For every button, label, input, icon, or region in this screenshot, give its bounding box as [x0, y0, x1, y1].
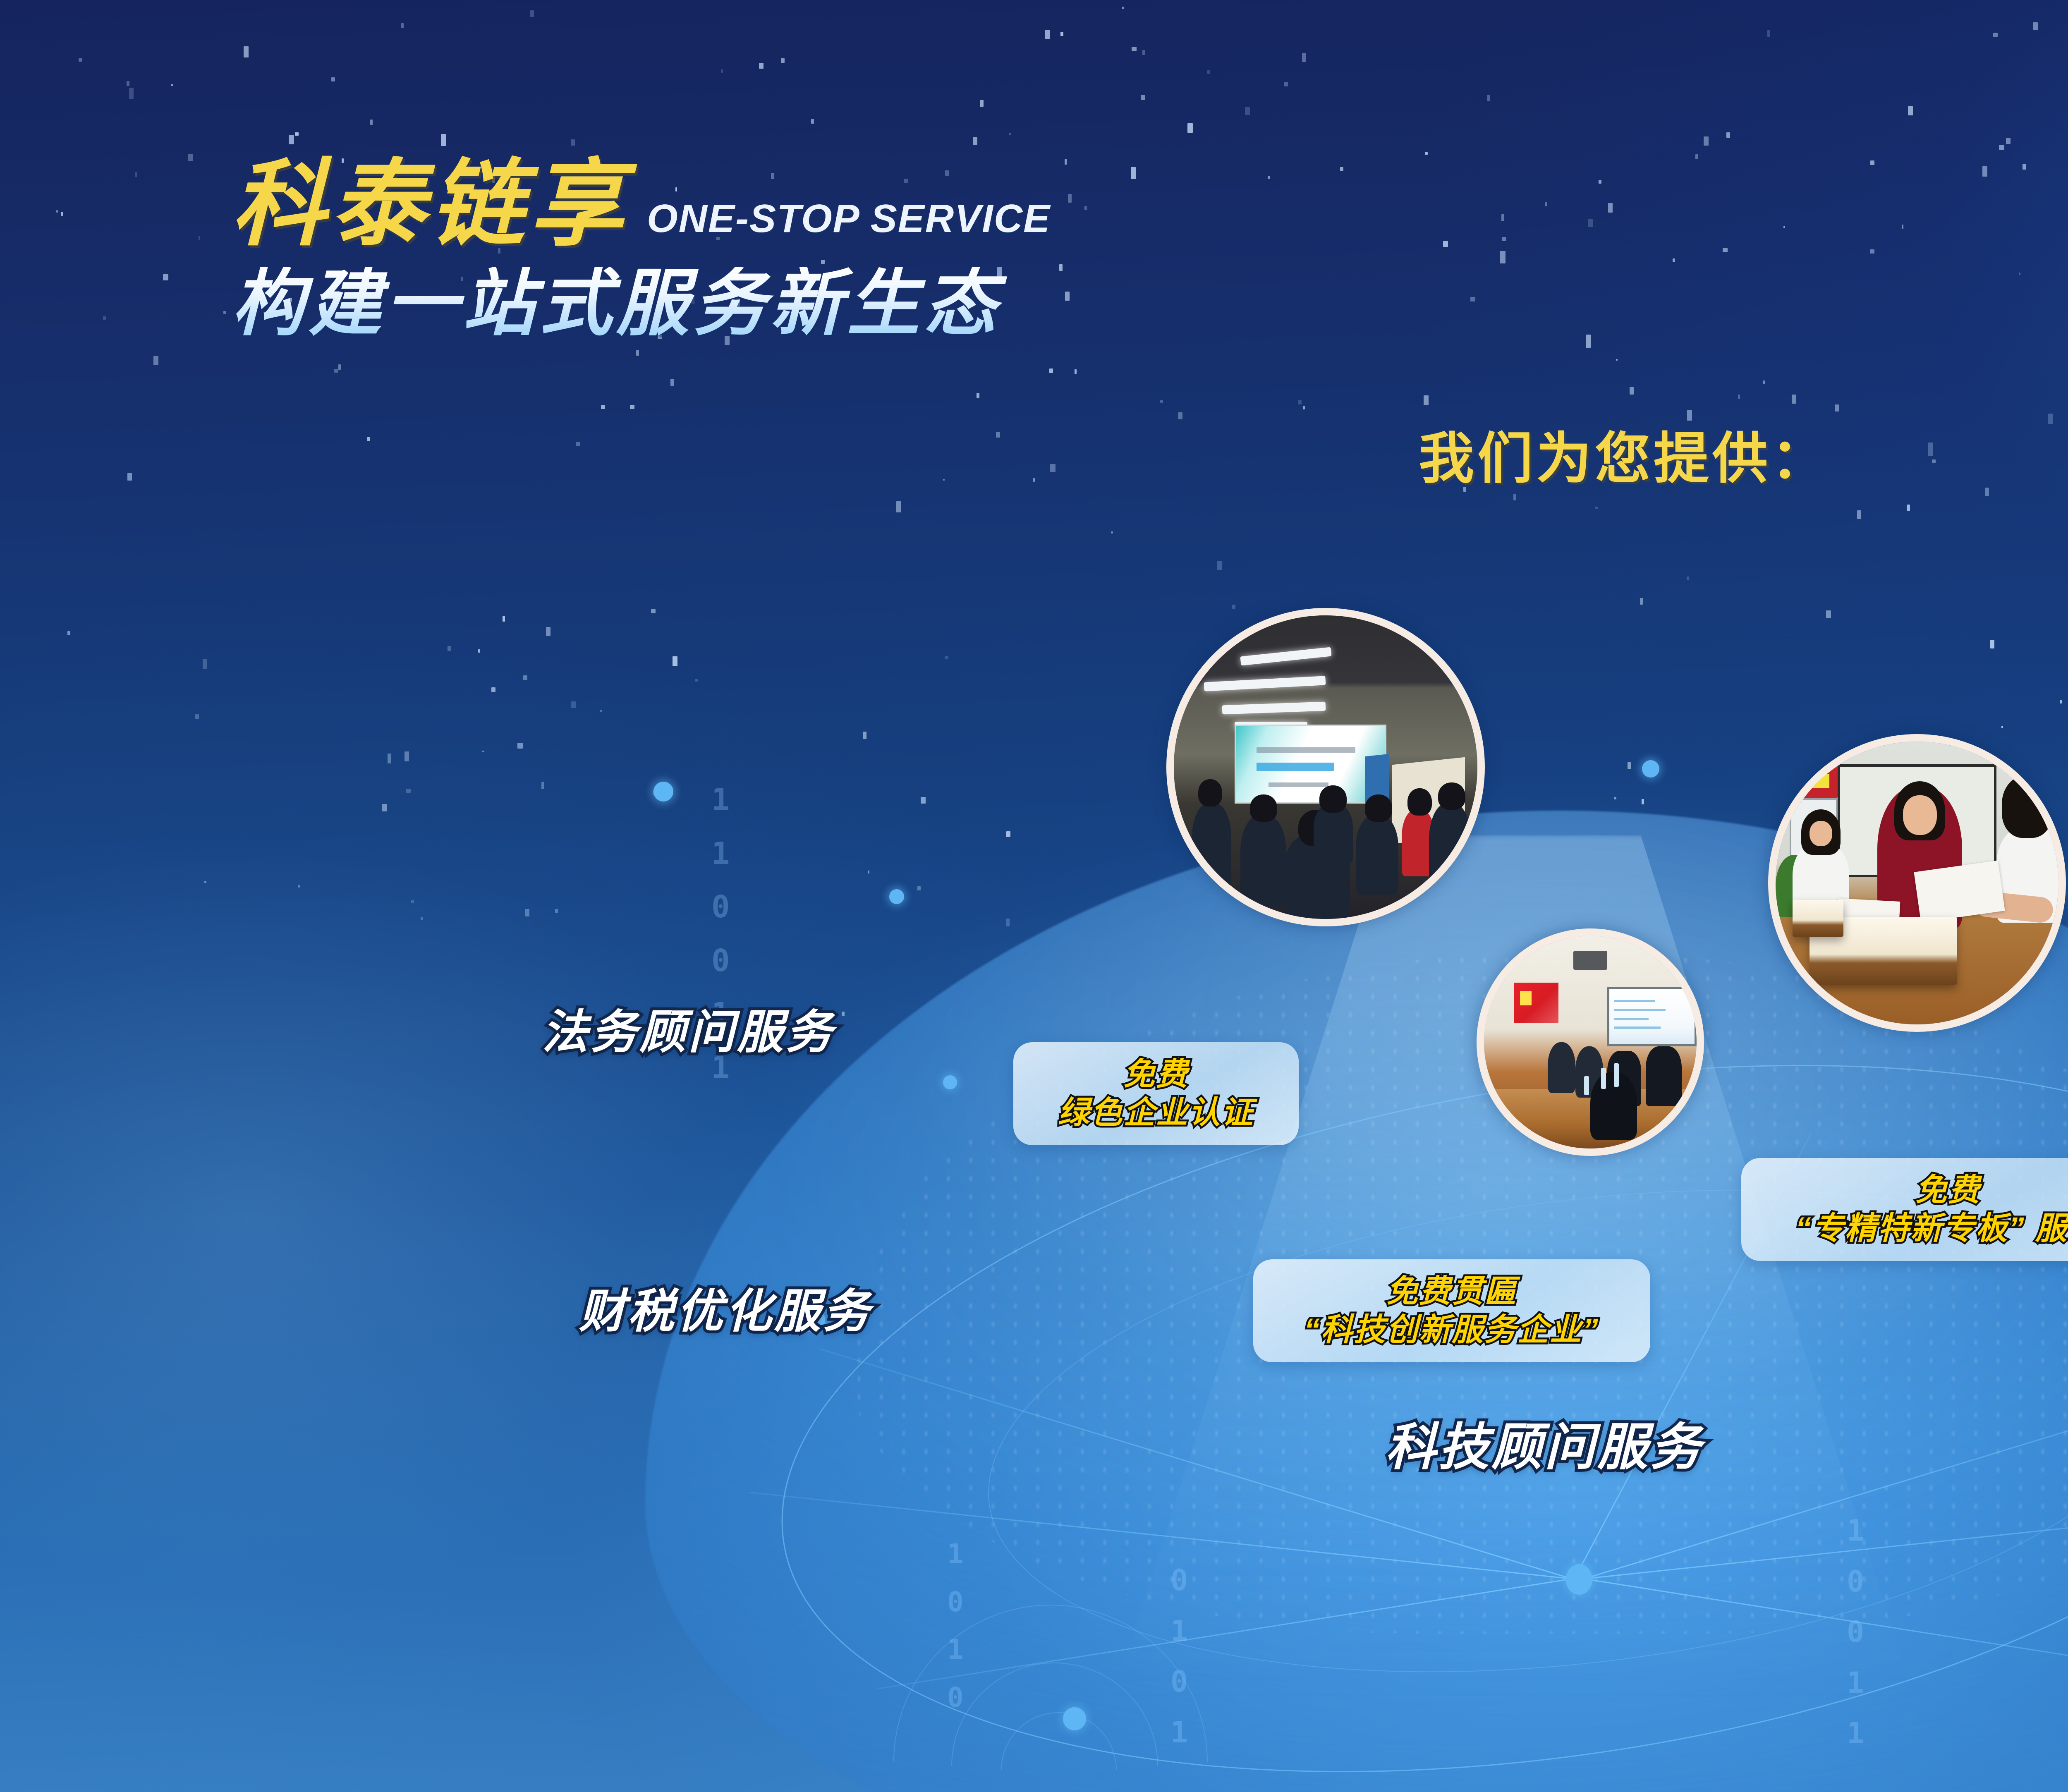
- star-dot: [1723, 248, 1728, 252]
- binary-digit: 0: [947, 1674, 964, 1722]
- network-node: [889, 889, 904, 904]
- star-dot: [195, 714, 199, 719]
- star-dot: [1640, 598, 1643, 605]
- star-dot: [382, 804, 387, 811]
- badge-green-enterprise[interactable]: 免费 绿色企业认证: [1013, 1042, 1299, 1145]
- star-dot: [1783, 226, 1785, 228]
- binary-digit: 1: [711, 827, 730, 881]
- star-dot: [555, 909, 558, 913]
- star-dot: [759, 63, 764, 69]
- star-dot: [1298, 400, 1302, 404]
- network-node-center: [1566, 1564, 1592, 1595]
- badge-line-1: 免费: [1764, 1172, 2068, 1208]
- star-dot: [921, 797, 926, 804]
- star-dot: [103, 316, 106, 320]
- binary-digit: 1: [1170, 1606, 1188, 1657]
- star-dot: [153, 356, 158, 365]
- star-dot: [1870, 249, 1874, 254]
- star-dot: [1608, 203, 1613, 213]
- star-dot: [1187, 123, 1193, 133]
- star-dot: [1588, 219, 1593, 227]
- badge-line-1: 免费: [1036, 1056, 1276, 1092]
- star-dot: [973, 137, 977, 145]
- star-dot: [842, 1012, 845, 1016]
- star-dot: [405, 751, 409, 761]
- star-dot: [1006, 919, 1010, 926]
- star-dot: [2023, 164, 2026, 170]
- star-dot: [1628, 762, 1631, 769]
- star-dot: [1763, 380, 1765, 384]
- star-dot: [1586, 335, 1591, 348]
- star-dot: [2006, 138, 2011, 144]
- star-dot: [1065, 159, 1067, 165]
- badge-line-2: 绿色企业认证: [1036, 1095, 1276, 1131]
- star-dot: [1616, 359, 1618, 361]
- star-dot: [1501, 214, 1504, 221]
- star-dot: [411, 900, 414, 903]
- star-dot: [1985, 488, 1989, 496]
- star-dot: [601, 405, 605, 409]
- star-dot: [571, 139, 575, 146]
- star-dot: [421, 917, 423, 920]
- star-dot: [1068, 194, 1072, 203]
- star-dot: [600, 710, 602, 712]
- binary-digit: 0: [1847, 1607, 1864, 1658]
- star-dot: [1726, 132, 1730, 138]
- star-dot: [223, 311, 226, 314]
- star-dot: [67, 631, 70, 635]
- star-dot: [388, 754, 391, 763]
- photo-seminar-hall: [1166, 608, 1485, 926]
- provide-heading: 我们为您提供：: [1419, 414, 1830, 494]
- binary-column-mid-2: 10011: [1847, 1505, 1864, 1759]
- star-dot: [1470, 297, 1475, 301]
- star-dot: [1424, 395, 1429, 405]
- star-dot: [1982, 166, 1987, 177]
- star-dot: [401, 23, 404, 28]
- star-dot: [630, 405, 634, 409]
- star-dot: [636, 350, 639, 356]
- star-dot: [1599, 180, 1601, 184]
- star-dot: [2019, 273, 2020, 275]
- star-dot: [1738, 395, 1740, 399]
- star-dot: [441, 134, 446, 146]
- binary-digit: 1: [947, 1530, 964, 1578]
- star-dot: [1060, 32, 1063, 36]
- star-dot: [129, 88, 134, 99]
- star-dot: [721, 69, 723, 73]
- star-dot: [1075, 369, 1077, 374]
- star-dot: [1142, 50, 1145, 55]
- star-dot: [171, 84, 173, 86]
- binary-digit: 0: [711, 880, 730, 934]
- star-dot: [1704, 136, 1709, 146]
- star-dot: [135, 172, 137, 177]
- binary-digit: 1: [1847, 1658, 1864, 1708]
- star-dot: [199, 236, 200, 240]
- star-dot: [1695, 154, 1698, 159]
- binary-digit: 1: [947, 1626, 964, 1674]
- star-dot: [1425, 152, 1428, 155]
- star-dot: [203, 659, 207, 669]
- star-dot: [945, 656, 948, 659]
- star-dot: [523, 675, 527, 680]
- star-dot: [695, 679, 698, 682]
- star-dot: [370, 120, 373, 125]
- star-dot: [1673, 258, 1675, 262]
- binary-column-mid-1: 0101: [1170, 1555, 1188, 1758]
- badge-tech-innovation[interactable]: 免费贯匾 “科技创新服务企业”: [1253, 1259, 1650, 1362]
- star-dot: [1141, 95, 1145, 100]
- star-dot: [1870, 160, 1874, 165]
- star-dot: [1443, 241, 1448, 247]
- service-label-fiscal-tax[interactable]: 财税优化服务: [579, 1274, 872, 1341]
- poster-canvas: 110011 1010 0101 10011 1101011 0110 0110…: [0, 0, 2068, 1792]
- star-dot: [406, 789, 411, 793]
- service-label-tech-advisory[interactable]: 科技顾问服务: [1386, 1406, 1703, 1479]
- star-dot: [1792, 395, 1796, 404]
- brand-title-cn: 科泰链享: [232, 157, 629, 251]
- headline-block: 科泰链享 ONE-STOP SERVICE 构建一站式服务新生态: [232, 157, 1051, 340]
- star-dot: [127, 81, 129, 86]
- star-dot: [1687, 577, 1689, 580]
- star-dot: [1160, 400, 1163, 403]
- star-dot: [1245, 107, 1250, 115]
- binary-digit: 1: [1847, 1505, 1864, 1556]
- star-dot: [977, 393, 979, 398]
- badge-specialized-new[interactable]: 免费 “专精特新专板” 服务: [1741, 1158, 2068, 1261]
- star-dot: [1059, 264, 1063, 271]
- star-dot: [1642, 799, 1644, 804]
- star-dot: [338, 364, 341, 370]
- star-dot: [79, 58, 82, 62]
- star-dot: [651, 609, 656, 613]
- star-dot: [917, 886, 921, 890]
- star-dot: [204, 881, 206, 883]
- star-dot: [1340, 167, 1343, 171]
- star-dot: [1065, 292, 1070, 301]
- star-dot: [1009, 133, 1011, 135]
- star-dot: [1049, 368, 1053, 373]
- star-dot: [1111, 531, 1113, 534]
- binary-digit: 0: [947, 1578, 964, 1626]
- star-dot: [517, 743, 523, 749]
- star-dot: [1907, 505, 1910, 511]
- star-dot: [1302, 53, 1306, 62]
- star-dot: [1006, 831, 1010, 837]
- binary-digit: 0: [1170, 1656, 1188, 1707]
- photo-office-consultation: [1768, 734, 2066, 1032]
- star-dot: [334, 369, 338, 373]
- binary-digit: 1: [711, 773, 730, 827]
- star-dot: [868, 871, 869, 873]
- star-dot: [980, 100, 984, 107]
- star-dot: [1928, 443, 1933, 456]
- star-dot: [996, 432, 1000, 438]
- star-dot: [1902, 225, 1903, 229]
- star-dot: [525, 909, 529, 916]
- brand-subtitle-cn: 构建一站式服务新生态: [232, 267, 1051, 340]
- star-dot: [541, 782, 544, 789]
- star-dot: [1857, 510, 1861, 519]
- star-dot: [811, 119, 814, 124]
- network-node: [943, 1075, 957, 1089]
- star-dot: [943, 479, 945, 481]
- network-node: [1063, 1707, 1086, 1730]
- star-dot: [448, 646, 451, 651]
- star-dot: [1232, 605, 1235, 609]
- star-dot: [781, 58, 785, 63]
- star-dot: [1908, 106, 1913, 115]
- star-dot: [1826, 610, 1831, 618]
- star-dot: [1502, 237, 1506, 241]
- star-dot: [1767, 30, 1770, 37]
- star-dot: [1835, 404, 1839, 412]
- binary-column-left-2: 1010: [947, 1530, 964, 1721]
- star-dot: [503, 616, 505, 622]
- star-dot: [56, 210, 58, 213]
- star-dot: [295, 132, 299, 136]
- star-dot: [367, 437, 370, 441]
- badge-line-2: “专精特新专板” 服务: [1764, 1211, 2068, 1247]
- star-dot: [1487, 95, 1490, 101]
- star-dot: [576, 442, 580, 446]
- star-dot: [1630, 387, 1634, 395]
- star-dot: [673, 656, 677, 666]
- star-dot: [1268, 176, 1270, 179]
- star-dot: [1207, 70, 1210, 74]
- binary-digit: 0: [1170, 1555, 1188, 1606]
- star-dot: [1545, 202, 1547, 206]
- star-dot: [1178, 412, 1182, 419]
- star-dot: [1084, 206, 1087, 210]
- service-label-legal-advisory[interactable]: 法务顾问服务: [542, 995, 835, 1062]
- star-dot: [491, 687, 495, 692]
- star-dot: [571, 701, 576, 708]
- photo-training-room: [1477, 928, 1704, 1156]
- badge-line-2: “科技创新服务企业”: [1276, 1312, 1627, 1348]
- star-dot: [1217, 561, 1222, 570]
- binary-digit: 0: [711, 934, 730, 988]
- star-dot: [1122, 7, 1124, 9]
- binary-digit: 1: [1847, 1708, 1864, 1759]
- star-dot: [1999, 145, 2004, 150]
- star-dot: [482, 751, 484, 752]
- star-dot: [530, 10, 534, 17]
- star-dot: [188, 154, 193, 161]
- star-dot: [478, 649, 480, 653]
- star-dot: [1131, 167, 1136, 179]
- star-dot: [61, 212, 63, 216]
- star-dot: [1045, 30, 1050, 39]
- star-dot: [2001, 726, 2003, 728]
- star-dot: [1303, 406, 1305, 409]
- star-dot: [2033, 22, 2038, 30]
- star-dot: [1614, 797, 1616, 799]
- star-dot: [863, 732, 866, 739]
- star-dot: [670, 379, 674, 386]
- star-dot: [1932, 459, 1936, 463]
- star-dot: [289, 135, 294, 144]
- star-dot: [1500, 251, 1506, 263]
- star-dot: [1990, 640, 1994, 648]
- star-dot: [546, 627, 551, 636]
- star-dot: [1033, 478, 1035, 482]
- star-dot: [1993, 33, 1998, 37]
- star-dot: [163, 274, 168, 280]
- star-dot: [896, 501, 901, 512]
- network-node: [1642, 760, 1659, 778]
- star-dot: [1284, 82, 1288, 86]
- star-dot: [1595, 507, 1598, 509]
- star-dot: [127, 473, 132, 481]
- binary-digit: 1: [1170, 1707, 1188, 1758]
- binary-digit: 0: [1847, 1556, 1864, 1607]
- star-dot: [2060, 700, 2062, 703]
- star-dot: [244, 46, 249, 57]
- star-dot: [1513, 494, 1516, 500]
- star-dot: [2048, 414, 2053, 424]
- brand-title-en: ONE-STOP SERVICE: [647, 196, 1051, 251]
- badge-line-1: 免费贯匾: [1276, 1273, 1627, 1309]
- star-dot: [1132, 47, 1137, 51]
- network-node: [653, 782, 673, 801]
- star-dot: [298, 885, 300, 888]
- star-dot: [331, 77, 335, 81]
- star-dot: [1050, 464, 1056, 472]
